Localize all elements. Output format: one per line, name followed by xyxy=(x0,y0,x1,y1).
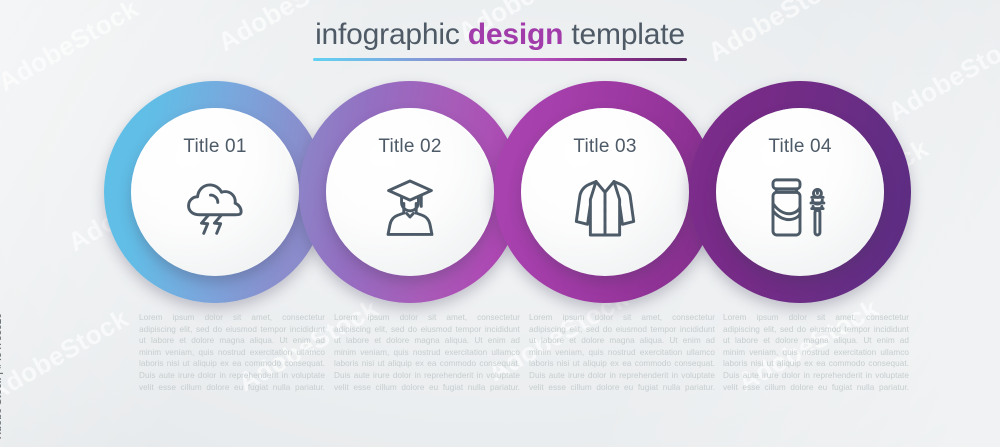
description-text-2: Lorem ipsum dolor sit amet, consectetur … xyxy=(334,312,520,405)
graduate-student-icon xyxy=(374,172,446,244)
node-title-2: Title 02 xyxy=(378,136,441,158)
description-text-4: Lorem ipsum dolor sit amet, consectetur … xyxy=(723,312,909,405)
node-step-1[interactable]: Title 01 xyxy=(104,81,326,303)
node-row: Title 01 Title 02 xyxy=(0,81,1000,303)
infographic-canvas: AdobeStock AdobeStock AdobeStock AdobeSt… xyxy=(0,0,1000,447)
node-inner-3: Title 03 xyxy=(521,108,689,276)
node-title-4: Title 04 xyxy=(768,136,831,158)
lab-coat-icon xyxy=(569,172,641,244)
description-text-1: Lorem ipsum dolor sit amet, consectetur … xyxy=(139,312,325,405)
node-inner-1: Title 01 xyxy=(131,108,299,276)
node-title-3: Title 03 xyxy=(573,136,636,158)
page-title-part2: template xyxy=(563,18,685,51)
description-text-3: Lorem ipsum dolor sit amet, consectetur … xyxy=(529,312,715,405)
node-inner-2: Title 02 xyxy=(326,108,494,276)
node-inner-4: Title 04 xyxy=(716,108,884,276)
honey-jar-dipper-icon xyxy=(764,172,836,244)
page-title: infographic design template xyxy=(0,18,1000,52)
title-underline-gradient xyxy=(313,58,687,61)
node-step-4[interactable]: Title 04 xyxy=(689,81,911,303)
node-step-2[interactable]: Title 02 xyxy=(299,81,521,303)
description-row: Lorem ipsum dolor sit amet, consectetur … xyxy=(0,312,1000,422)
node-step-3[interactable]: Title 03 xyxy=(494,81,716,303)
node-title-1: Title 01 xyxy=(183,136,246,158)
page-title-accent: design xyxy=(468,18,563,51)
header: infographic design template xyxy=(0,18,1000,61)
cloud-lightning-icon xyxy=(179,172,251,244)
page-title-part1: infographic xyxy=(315,18,468,51)
